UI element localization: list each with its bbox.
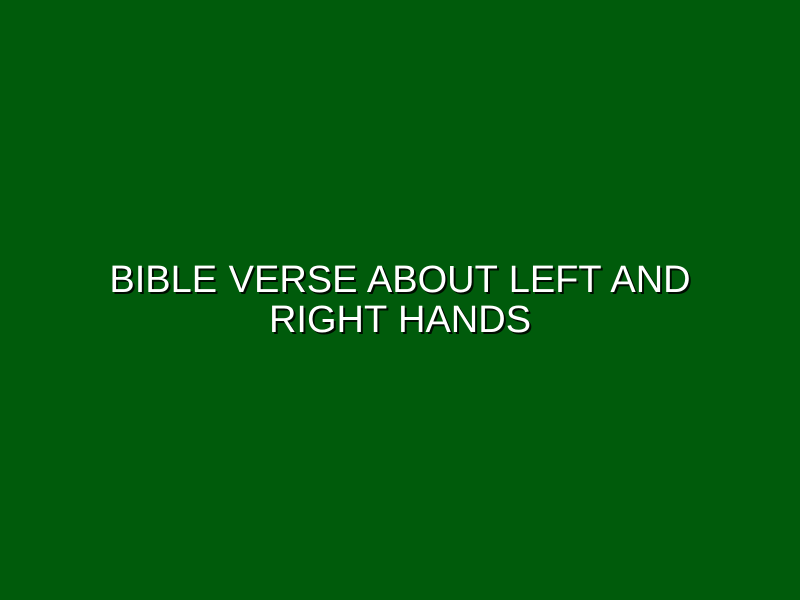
headline-block: Bible Verse About Left and Right Hands <box>80 260 720 340</box>
page-title: Bible Verse About Left and Right Hands <box>80 260 720 340</box>
title-slide: Bible Verse About Left and Right Hands <box>0 0 800 600</box>
